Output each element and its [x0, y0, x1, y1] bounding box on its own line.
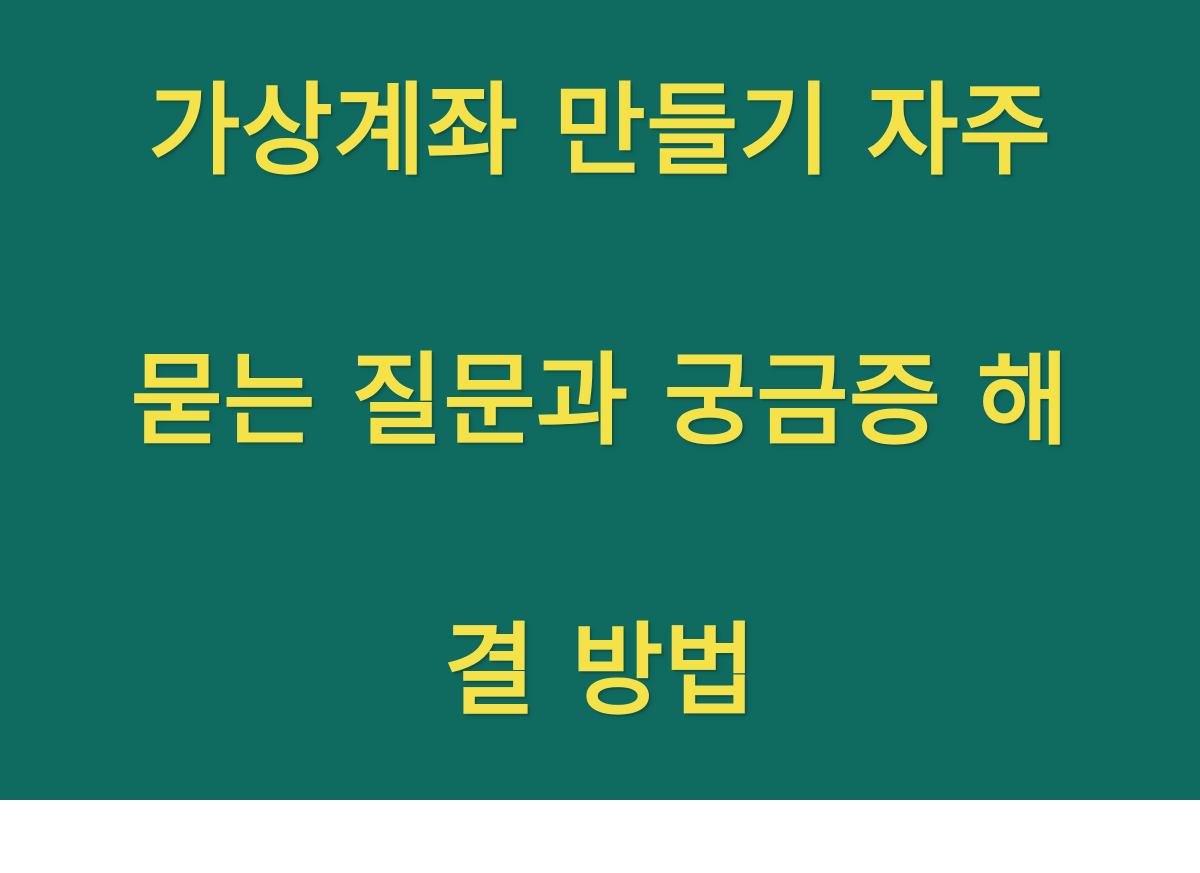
headline-line-2: 묻는 질문과 궁금증 해	[60, 333, 1140, 468]
headline-title: 가상계좌 만들기 자주 묻는 질문과 궁금증 해 결 방법	[0, 0, 1200, 873]
headline-line-3: 결 방법	[60, 603, 1140, 738]
banner-canvas: 가상계좌 만들기 자주 묻는 질문과 궁금증 해 결 방법	[0, 0, 1200, 800]
headline-line-1: 가상계좌 만들기 자주	[60, 63, 1140, 198]
